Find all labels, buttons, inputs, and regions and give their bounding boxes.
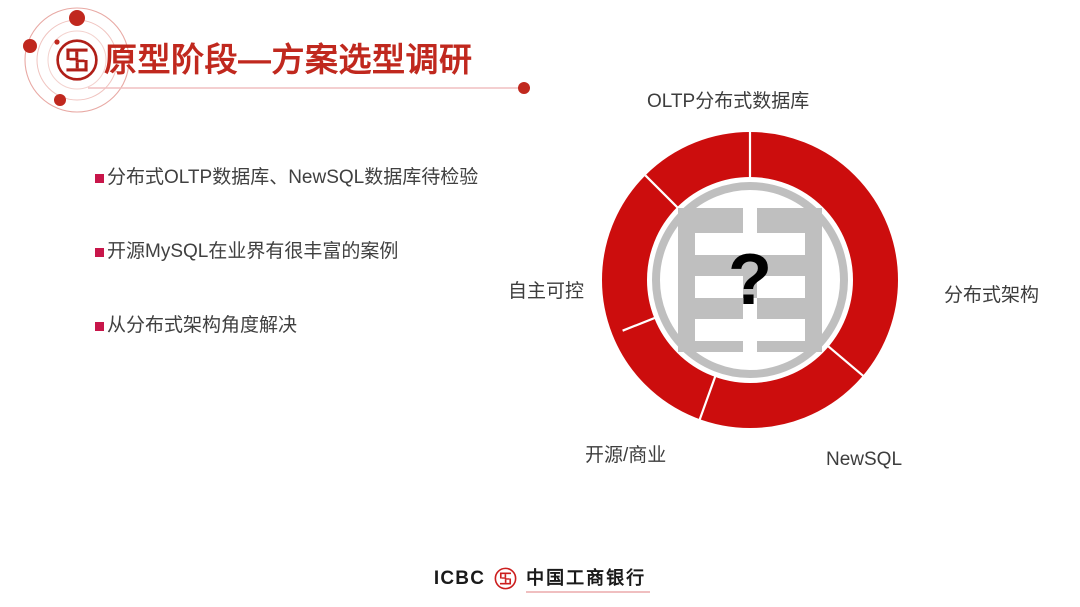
page-title: 原型阶段—方案选型调研	[104, 38, 473, 82]
icbc-emblem-icon	[55, 38, 99, 82]
bullet-list: 分布式OLTP数据库、NewSQL数据库待检验 开源MySQL在业界有很丰富的案…	[95, 165, 565, 387]
donut-label-bottom-left: 开源/商业	[585, 444, 666, 468]
icbc-emblem-icon	[494, 567, 517, 590]
donut-label-right: 分布式架构	[944, 284, 1039, 308]
donut-label-left: 自主可控	[508, 280, 584, 304]
list-item-label: 从分布式架构角度解决	[107, 313, 297, 339]
list-item-label: 开源MySQL在业界有很丰富的案例	[107, 239, 398, 265]
footer-underline	[526, 591, 650, 593]
donut-chart: ?	[600, 130, 900, 430]
list-item-label: 分布式OLTP数据库、NewSQL数据库待检验	[107, 165, 478, 191]
bullet-square-icon	[95, 248, 104, 257]
list-item: 开源MySQL在业界有很丰富的案例	[95, 239, 565, 265]
footer-brand-cn-wrap: 中国工商银行	[526, 564, 646, 593]
slide-header: 原型阶段—方案选型调研	[0, 0, 580, 120]
question-mark-label: ?	[600, 130, 900, 430]
bullet-square-icon	[95, 174, 104, 183]
list-item: 分布式OLTP数据库、NewSQL数据库待检验	[95, 165, 565, 191]
list-item: 从分布式架构角度解决	[95, 313, 565, 339]
bullet-square-icon	[95, 322, 104, 331]
donut-label-bottom-right: NewSQL	[826, 448, 902, 472]
footer-brand-latin: ICBC	[434, 568, 485, 590]
footer-branding: ICBC 中国工商银行	[0, 564, 1080, 593]
footer-brand-cn: 中国工商银行	[526, 568, 646, 588]
donut-label-top: OLTP分布式数据库	[647, 90, 809, 114]
